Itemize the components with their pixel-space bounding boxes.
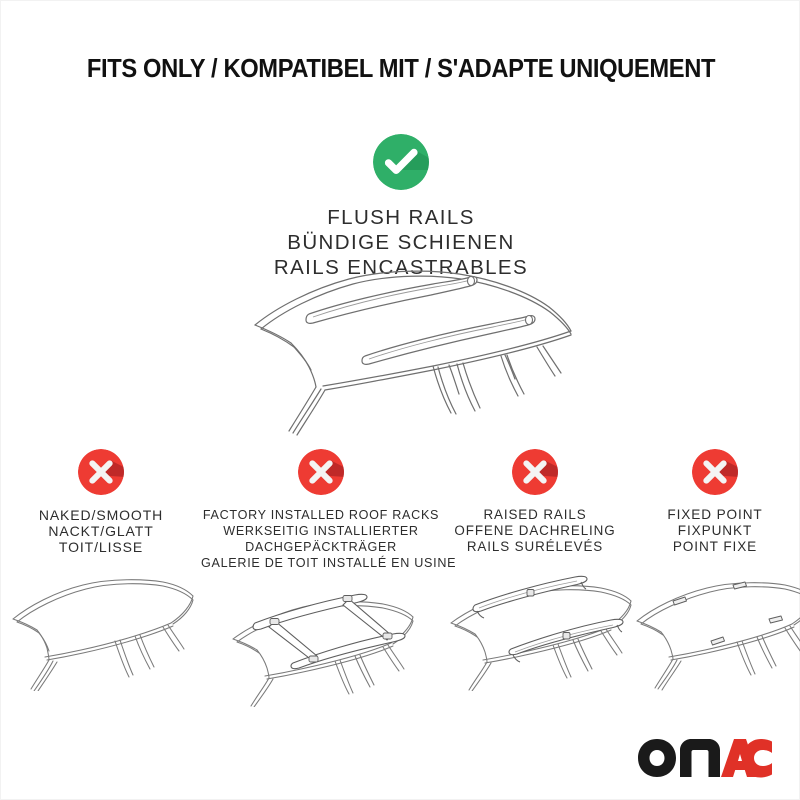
exclusion-labels: RAISED RAILS OFFENE DACHRELING RAILS SUR… <box>441 507 629 555</box>
exclusion-label-fr: POINT FIXE <box>629 539 800 555</box>
exclusion-label-de: FIXPUNKT <box>629 523 800 539</box>
exclusion-label-en: NAKED/SMOOTH <box>1 507 201 523</box>
incompatible-section: NAKED/SMOOTH NACKT/GLATT TOIT/LISSE <box>1 449 800 707</box>
exclusion-label-en: FIXED POINT <box>629 507 800 523</box>
exclusion-label-fr: RAILS SURÉLEVÉS <box>441 539 629 555</box>
car-roof-factory-racks-illustration <box>201 577 441 707</box>
exclusion-item-raised-rails: RAISED RAILS OFFENE DACHRELING RAILS SUR… <box>441 449 629 691</box>
compatible-section: FLUSH RAILS BÜNDIGE SCHIENEN RAILS ENCAS… <box>1 134 800 280</box>
exclusion-labels: FIXED POINT FIXPUNKT POINT FIXE <box>629 507 800 555</box>
exclusion-item-naked-smooth: NAKED/SMOOTH NACKT/GLATT TOIT/LISSE <box>1 449 201 691</box>
compatible-label-en: FLUSH RAILS <box>1 205 800 230</box>
exclusion-labels: FACTORY INSTALLED ROOF RACKS WERKSEITIG … <box>201 507 441 571</box>
exclusion-label-de: NACKT/GLATT <box>1 523 201 539</box>
exclusion-labels: NAKED/SMOOTH NACKT/GLATT TOIT/LISSE <box>1 507 201 555</box>
exclusion-label-de: OFFENE DACHRELING <box>441 523 629 539</box>
exclusion-label-de-1: WERKSEITIG INSTALLIERTER <box>201 523 441 539</box>
exclusion-label-en: FACTORY INSTALLED ROOF RACKS <box>201 507 441 523</box>
exclusion-label-fr: TOIT/LISSE <box>1 539 201 555</box>
car-roof-flush-rails-illustration <box>237 263 577 438</box>
exclusion-label-fr: GALERIE DE TOIT INSTALLÉ EN USINE <box>201 555 441 571</box>
x-circle-icon <box>78 449 124 495</box>
x-circle-icon <box>298 449 344 495</box>
exclusion-item-factory-roof-racks: FACTORY INSTALLED ROOF RACKS WERKSEITIG … <box>201 449 441 707</box>
omac-logo <box>635 735 775 781</box>
car-roof-fixed-point-illustration <box>629 561 800 691</box>
exclusion-item-fixed-point: FIXED POINT FIXPUNKT POINT FIXE <box>629 449 800 691</box>
exclusion-label-en: RAISED RAILS <box>441 507 629 523</box>
x-circle-icon <box>692 449 738 495</box>
exclusion-label-de-2: DACHGEPÄCKTRÄGER <box>201 539 441 555</box>
compatible-label-de: BÜNDIGE SCHIENEN <box>1 230 800 255</box>
check-circle-icon <box>373 134 429 190</box>
car-roof-naked-illustration <box>1 561 201 691</box>
page-title: FITS ONLY / KOMPATIBEL MIT / S'ADAPTE UN… <box>29 55 773 84</box>
car-roof-raised-rails-illustration <box>441 561 629 691</box>
x-circle-icon <box>512 449 558 495</box>
fitment-infographic: FITS ONLY / KOMPATIBEL MIT / S'ADAPTE UN… <box>0 0 800 800</box>
